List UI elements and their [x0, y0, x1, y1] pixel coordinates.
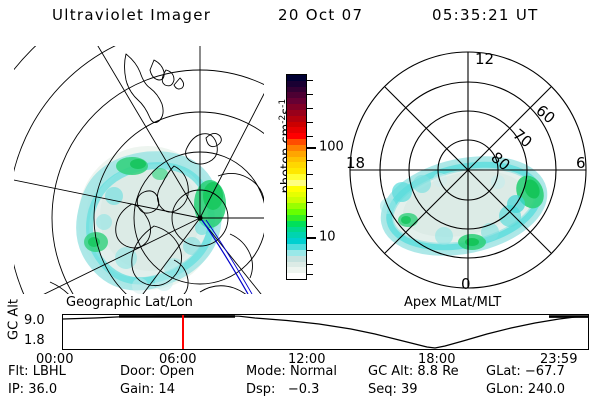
mlt-label-12: 12 [475, 50, 494, 68]
gc-alt-plot-area[interactable] [62, 314, 589, 350]
mlt-label-6: 6 [576, 154, 586, 172]
apex-mlat-mlt-panel[interactable]: 12 18 6 0 60 70 80 [344, 46, 594, 294]
colorbar: photon cm-2s-1 100 10 [266, 60, 344, 295]
mlt-label-0: 0 [461, 275, 471, 293]
mlt-label-18: 18 [346, 154, 365, 172]
mlat-label-70: 70 [509, 125, 535, 151]
status-seq: Seq: 39 [368, 382, 418, 397]
colorbar-tick-100-mark [307, 147, 316, 149]
gc-alt-tick-low: 1.8 [24, 333, 45, 348]
status-dsp: Dsp: −0.3 [246, 382, 319, 397]
mlat-label-60: 60 [532, 101, 558, 127]
colorbar-tick-10-mark [307, 237, 316, 239]
observation-time: 05:35:21 UT [432, 6, 539, 24]
gc-alt-curve-svg [63, 315, 588, 349]
gc-alt-axis-label: GC Alt [7, 289, 22, 351]
colorbar-band-34 [287, 273, 306, 279]
geographic-map-panel[interactable] [14, 46, 264, 294]
page-title: Ultraviolet Imager [52, 6, 211, 24]
aurora-emission-geographic [78, 146, 226, 294]
apex-polar-svg: 12 18 6 0 60 70 80 [344, 46, 594, 294]
header-bar: Ultraviolet Imager 20 Oct 07 05:35:21 UT [0, 6, 600, 32]
status-ip: IP: 36.0 [8, 382, 57, 397]
gc-alt-tick-high: 9.0 [24, 313, 45, 328]
time-series-strip[interactable]: Geographic Lat/Lon Apex MLat/MLT GC Alt … [0, 296, 600, 358]
status-gc-alt: GC Alt: 8.8 Re [368, 364, 459, 379]
colorbar-tick-100-label: 100 [319, 141, 344, 154]
status-bar: Flt: LBHL Door: Open Mode: Normal GC Alt… [0, 364, 600, 400]
status-glon: GLon: 240.0 [486, 382, 565, 397]
observation-date: 20 Oct 07 [278, 6, 363, 24]
geographic-map-svg [14, 46, 264, 294]
current-time-cursor[interactable] [182, 315, 184, 349]
status-mode: Mode: Normal [246, 364, 337, 379]
gc-alt-curve [63, 316, 588, 348]
status-gain: Gain: 14 [120, 382, 175, 397]
pole-marker [197, 215, 202, 220]
colorbar-gradient [287, 75, 306, 279]
polar-grid [350, 52, 586, 288]
status-flt: Flt: LBHL [8, 364, 66, 379]
colorbar-tick-10-label: 10 [319, 231, 336, 244]
colorbar-gradient-box [286, 74, 307, 280]
status-glat: GLat: −67.7 [486, 364, 565, 379]
status-door: Door: Open [120, 364, 194, 379]
geo-panel-caption: Geographic Lat/Lon [66, 295, 193, 310]
colorbar-ticks: 100 10 [307, 74, 344, 280]
apex-panel-caption: Apex MLat/MLT [404, 295, 501, 310]
